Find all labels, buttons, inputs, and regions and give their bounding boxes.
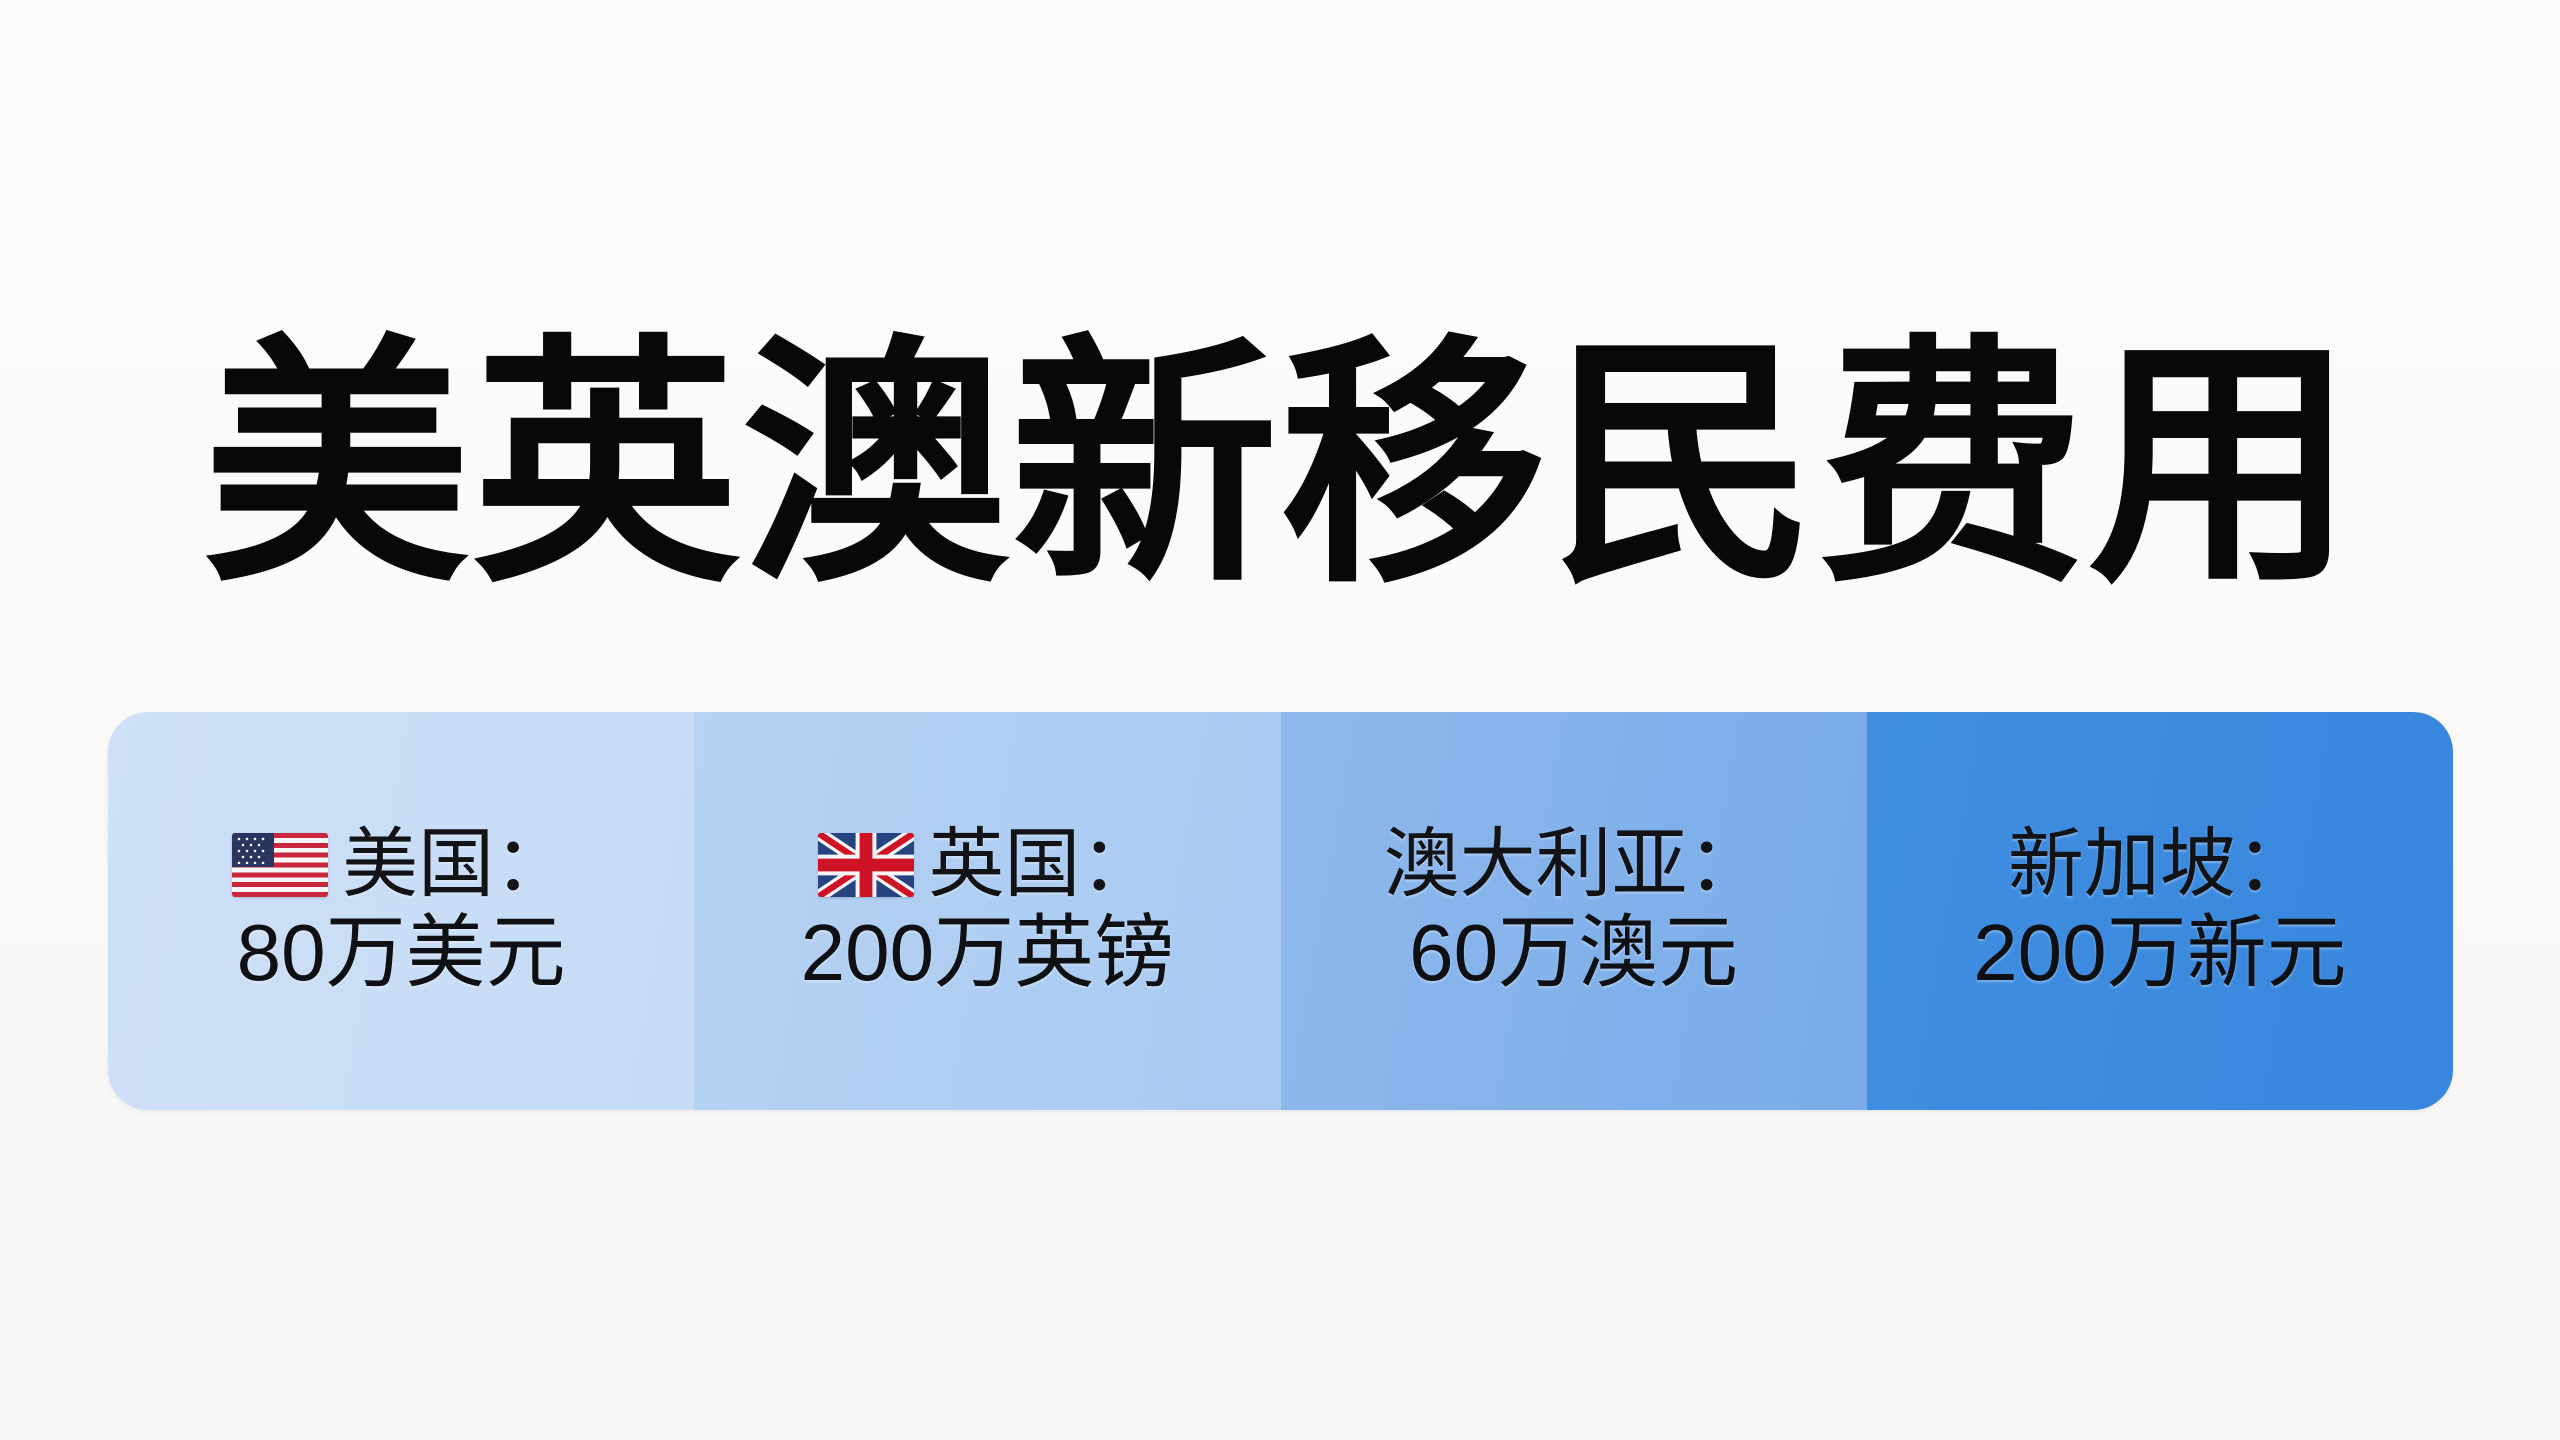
segment-amount-sg: 200万新元	[1973, 909, 2346, 997]
bar-segment-us[interactable]: 美国： 80万美元	[108, 712, 694, 1110]
segment-country-label-uk: 英国：	[928, 825, 1156, 906]
segment-country-row-uk: 英国：	[818, 825, 1156, 906]
segment-amount-us: 80万美元	[237, 909, 566, 997]
segment-country-row-au: 澳大利亚：	[1384, 825, 1764, 906]
bar-segment-uk[interactable]: 英国： 200万英镑	[694, 712, 1280, 1110]
page-title-container: 美英澳新移民费用	[0, 286, 2560, 646]
flag-us-icon	[232, 833, 328, 897]
segment-country-label-au: 澳大利亚：	[1384, 825, 1764, 906]
segment-country-row-sg: 新加坡：	[2008, 825, 2312, 906]
segment-country-row-us: 美国：	[232, 825, 570, 906]
cost-comparison-bar: 美国： 80万美元 英国： 200万英镑	[108, 712, 2453, 1110]
segment-amount-au: 60万澳元	[1409, 909, 1738, 997]
poster-background: 美英澳新移民费用 美国： 80万美元	[0, 0, 2560, 1440]
page-title: 美英澳新移民费用	[203, 335, 2357, 597]
segment-country-label-sg: 新加坡：	[2008, 825, 2312, 906]
bar-segment-au[interactable]: 澳大利亚： 60万澳元	[1281, 712, 1867, 1110]
segment-country-label-us: 美国：	[342, 825, 570, 906]
flag-uk-icon	[818, 833, 914, 897]
segment-amount-uk: 200万英镑	[801, 909, 1174, 997]
bar-segment-sg[interactable]: 新加坡： 200万新元	[1867, 712, 2453, 1110]
